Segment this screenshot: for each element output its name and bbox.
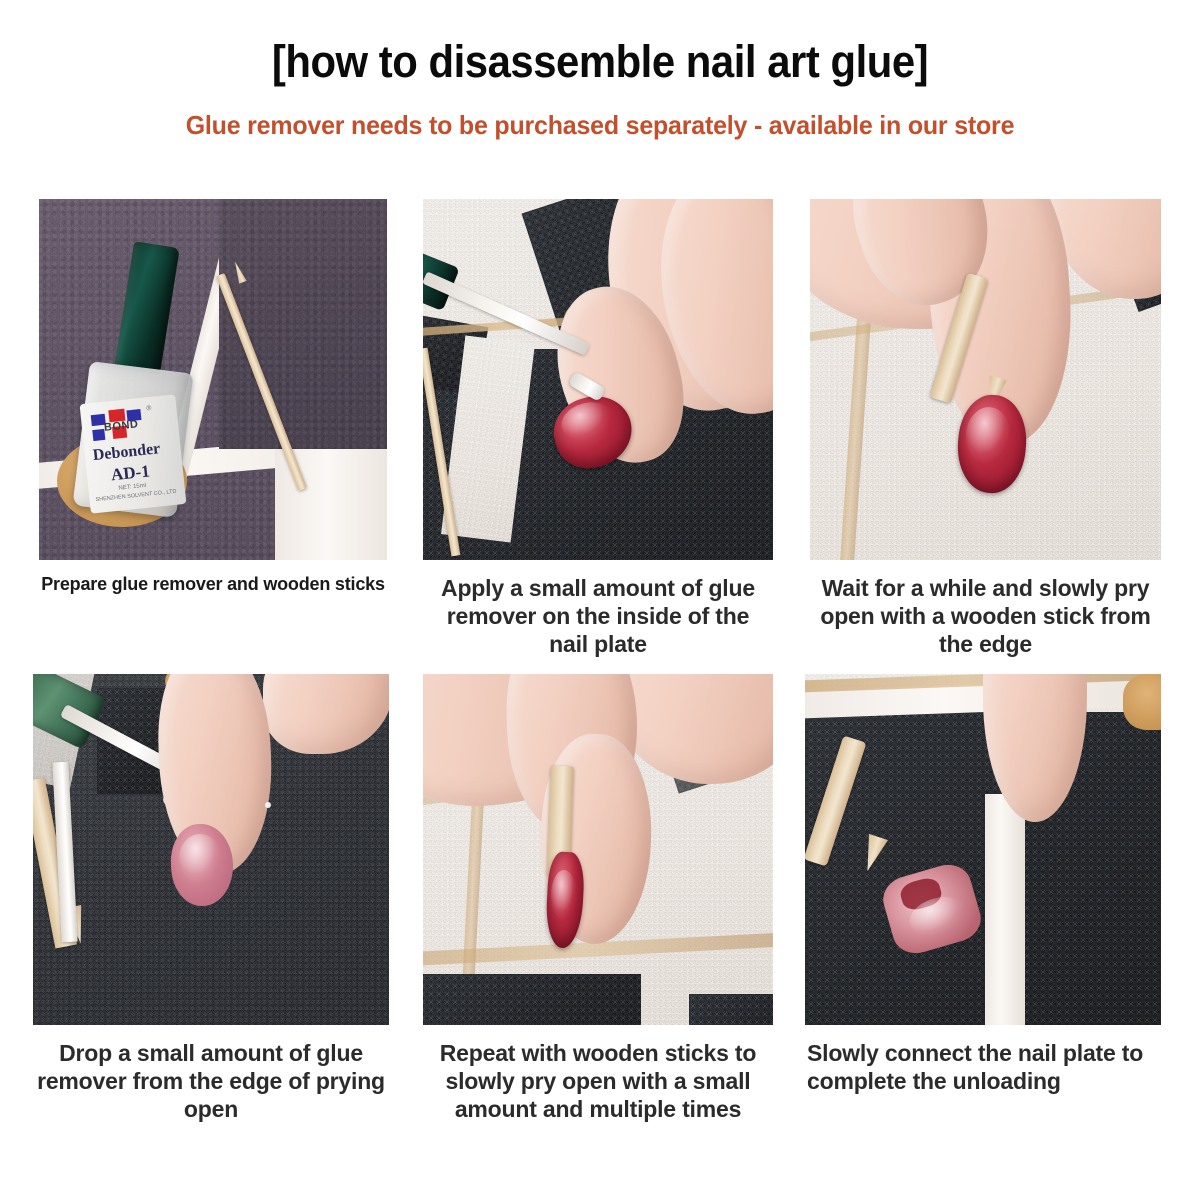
product-label: BOND ® Debonder AD-1 NET: 15ml SHENZHEN …	[80, 394, 187, 513]
photo-step-6-nail-plate-removed	[805, 674, 1161, 1025]
instruction-infographic: [how to disassemble nail art glue] Glue …	[0, 0, 1200, 1200]
page-title: [how to disassemble nail art glue]	[42, 36, 1158, 88]
product-name: Debonder	[92, 440, 161, 465]
page-subtitle: Glue remover needs to be purchased separ…	[24, 110, 1176, 141]
step-card-1: BOND ® Debonder AD-1 NET: 15ml SHENZHEN …	[39, 199, 387, 596]
registered-mark-icon: ®	[146, 405, 152, 413]
product-company: SHENZHEN SOLVENT CO., LTD	[95, 489, 176, 503]
step-card-4: Drop a small amount of glue remover from…	[33, 674, 389, 1123]
photo-step-3-pry-open-with-stick	[810, 199, 1161, 560]
photo-step-2-apply-glue-remover	[423, 199, 773, 560]
step-caption-4: Drop a small amount of glue remover from…	[33, 1039, 389, 1123]
step-caption-3: Wait for a while and slowly pry open wit…	[810, 574, 1161, 658]
steps-grid: BOND ® Debonder AD-1 NET: 15ml SHENZHEN …	[0, 196, 1200, 1196]
step-card-3: Wait for a while and slowly pry open wit…	[810, 199, 1161, 658]
brand-name: BOND	[103, 418, 138, 434]
step-card-2: Apply a small amount of glue remover on …	[423, 199, 773, 658]
step-card-6: Slowly connect the nail plate to complet…	[805, 674, 1161, 1095]
step-caption-1: Prepare glue remover and wooden sticks	[39, 574, 387, 596]
photo-step-1-glue-remover-and-sticks: BOND ® Debonder AD-1 NET: 15ml SHENZHEN …	[39, 199, 387, 560]
photo-step-4-drop-remover-at-edge	[33, 674, 389, 1025]
step-caption-6: Slowly connect the nail plate to complet…	[805, 1039, 1161, 1095]
product-model: AD-1	[110, 461, 151, 485]
step-caption-5: Repeat with wooden sticks to slowly pry …	[423, 1039, 773, 1123]
step-caption-2: Apply a small amount of glue remover on …	[423, 574, 773, 658]
step-card-5: Repeat with wooden sticks to slowly pry …	[423, 674, 773, 1123]
photo-step-5-repeat-prying	[423, 674, 773, 1025]
